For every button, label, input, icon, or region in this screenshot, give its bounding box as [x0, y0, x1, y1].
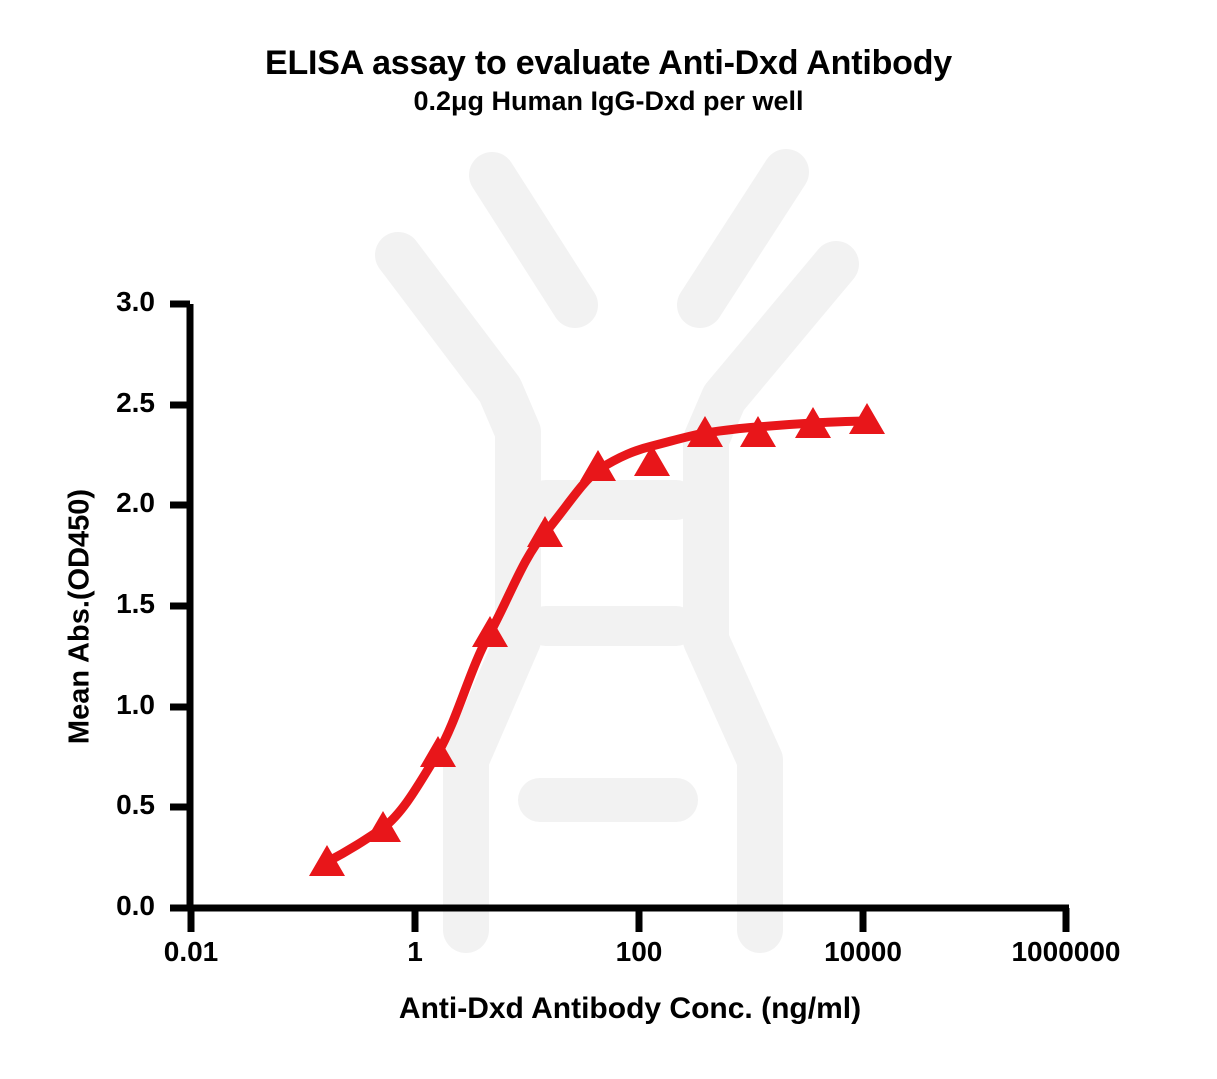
data-point: [309, 845, 345, 876]
antibody-y-shape-icon: [398, 172, 836, 930]
elisa-chart-figure: ELISA assay to evaluate Anti-Dxd Antibod…: [0, 0, 1217, 1079]
x-axis-ticks: [191, 908, 1066, 932]
plot-area: [0, 0, 1217, 1079]
